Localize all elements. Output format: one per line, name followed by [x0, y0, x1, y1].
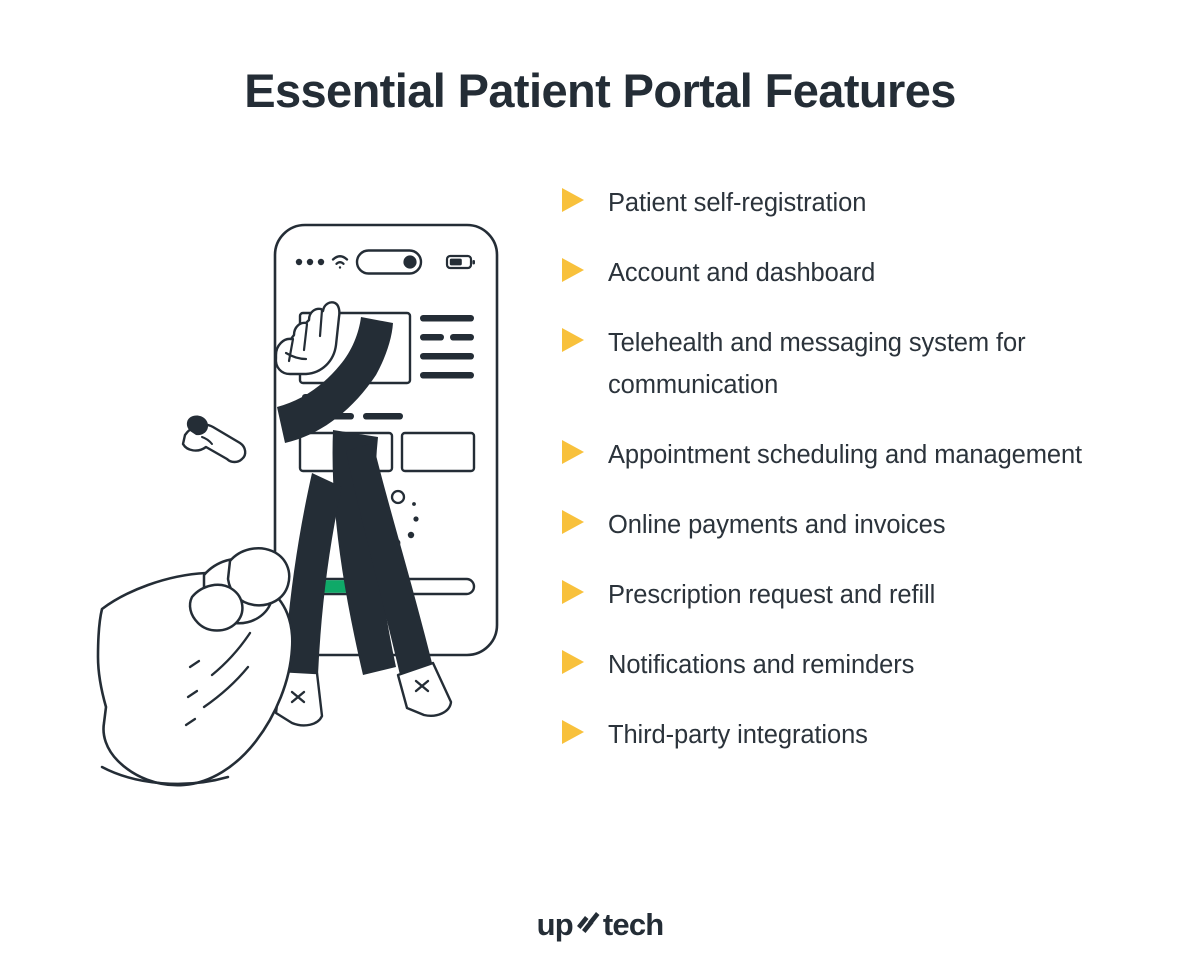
feature-label: Online payments and invoices [608, 504, 945, 546]
list-item: Telehealth and messaging system for comm… [560, 322, 1140, 406]
feature-label: Notifications and reminders [608, 644, 914, 686]
triangle-right-icon [560, 718, 586, 746]
triangle-right-icon [560, 438, 586, 466]
triangle-right-icon [560, 648, 586, 676]
title-container: Essential Patient Portal Features [0, 62, 1200, 120]
triangle-right-icon [560, 326, 586, 354]
hand-holding-device [98, 548, 292, 785]
feature-list: Patient self-registration Account and da… [560, 182, 1140, 756]
list-item: Online payments and invoices [560, 504, 1140, 546]
list-item: Patient self-registration [560, 182, 1140, 224]
list-item: Prescription request and refill [560, 574, 1140, 616]
feature-label: Third-party integrations [608, 714, 868, 756]
battery-icon [447, 256, 475, 268]
small-hand-thumb [183, 416, 245, 462]
feature-label: Account and dashboard [608, 252, 875, 294]
logo-text-before: up [537, 908, 573, 942]
list-item: Notifications and reminders [560, 644, 1140, 686]
infographic-page: Essential Patient Portal Features [0, 0, 1200, 979]
uptech-logo-inner: up tech [537, 908, 664, 942]
logo-text-after: tech [603, 908, 664, 942]
triangle-right-icon [560, 508, 586, 536]
uptech-logo[interactable]: up tech [0, 908, 1200, 942]
illustration-svg [80, 205, 530, 805]
feature-label: Telehealth and messaging system for comm… [608, 322, 1140, 406]
signal-dots-icon [296, 259, 324, 265]
feature-label: Patient self-registration [608, 182, 866, 224]
feature-label: Appointment scheduling and management [608, 434, 1082, 476]
hands-holding-smartphone-illustration [80, 205, 530, 805]
page-title: Essential Patient Portal Features [0, 62, 1200, 120]
list-item: Third-party integrations [560, 714, 1140, 756]
uptech-chevron-mark-icon [575, 910, 601, 940]
triangle-right-icon [560, 578, 586, 606]
card-placeholder-right [402, 433, 474, 471]
triangle-right-icon [560, 186, 586, 214]
triangle-right-icon [560, 256, 586, 284]
list-item: Account and dashboard [560, 252, 1140, 294]
feature-label: Prescription request and refill [608, 574, 935, 616]
list-item: Appointment scheduling and management [560, 434, 1140, 476]
dynamic-island-camera-icon [357, 251, 421, 274]
